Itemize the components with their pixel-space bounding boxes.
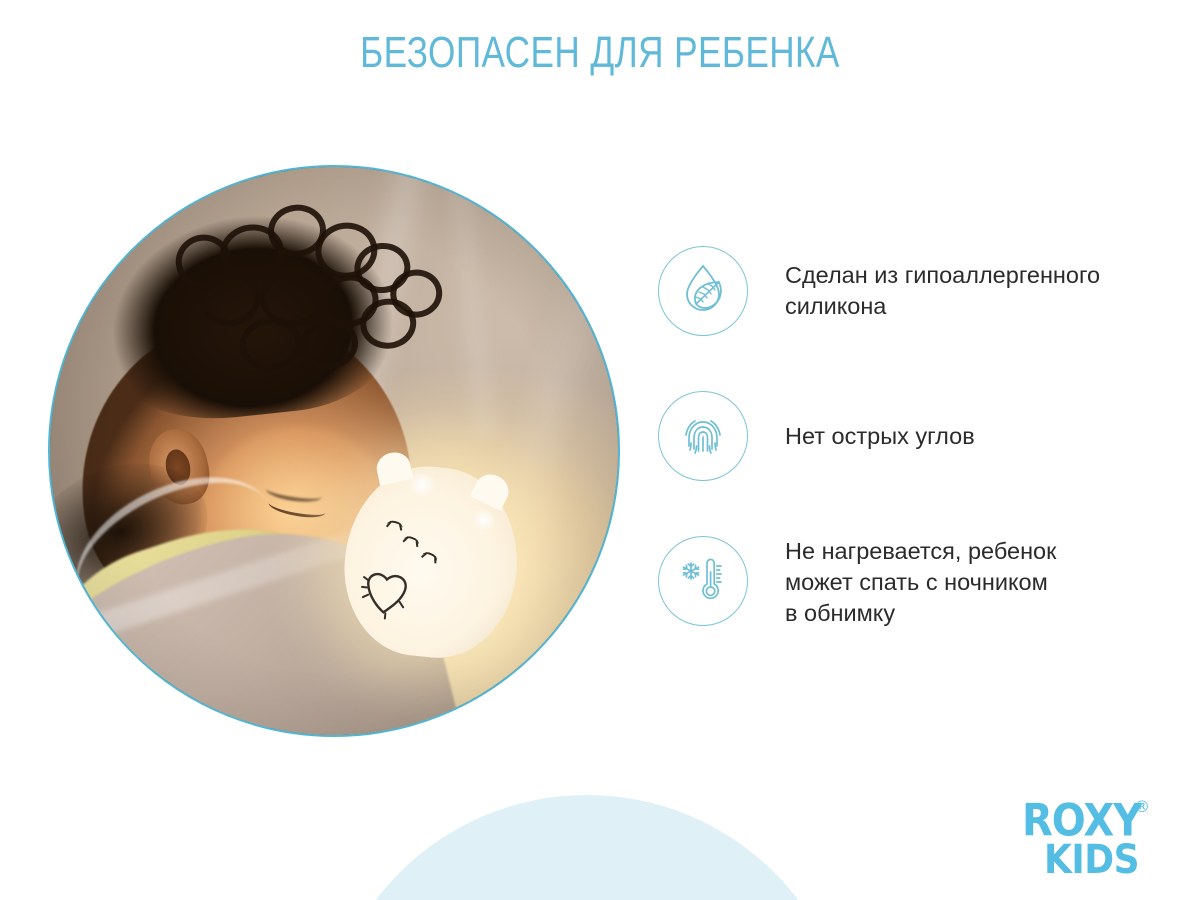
feature-label: Нет острых углов (785, 391, 975, 452)
slide-root: БЕЗОПАСЕН ДЛЯ РЕБЕНКА (0, 0, 1200, 900)
nightlight-highlight (469, 509, 499, 532)
nightlight-eyelash (402, 534, 421, 550)
feature-item-no-sharp-corners: Нет острых углов (658, 391, 1178, 481)
nightlight-eyelash (420, 550, 439, 567)
page-title: БЕЗОПАСЕН ДЛЯ РЕБЕНКА (120, 28, 1080, 78)
nightlight-eyelash (385, 519, 403, 534)
water-drop-leaf-icon (674, 260, 732, 323)
feature-label: Не нагревается, ребенок может спать с но… (785, 536, 1056, 629)
feature-icon-circle (658, 391, 748, 481)
feature-icon-circle (658, 536, 748, 626)
logo-line-kids: KIDS (1044, 837, 1139, 883)
feature-item-hypoallergenic: Сделан из гипоаллергенного силикона (658, 246, 1178, 336)
decorative-circle (322, 795, 852, 900)
fingerprint-icon (674, 405, 732, 468)
feature-item-no-heating: Не нагревается, ребенок может спать с но… (658, 536, 1178, 629)
thermometer-snowflake-icon (674, 550, 732, 613)
sleeping-baby-photo (50, 167, 618, 735)
product-photo-circle (48, 165, 620, 737)
feature-label: Сделан из гипоаллергенного силикона (785, 246, 1100, 322)
registered-trademark-icon: ® (1134, 797, 1150, 816)
brand-logo: ROXY ® KIDS (1022, 795, 1170, 877)
feature-icon-circle (658, 246, 748, 336)
nightlight-heart-icon (357, 562, 419, 624)
features-list: Сделан из гипоаллергенного силикона (658, 246, 1178, 629)
nightlight-highlight (404, 472, 440, 497)
